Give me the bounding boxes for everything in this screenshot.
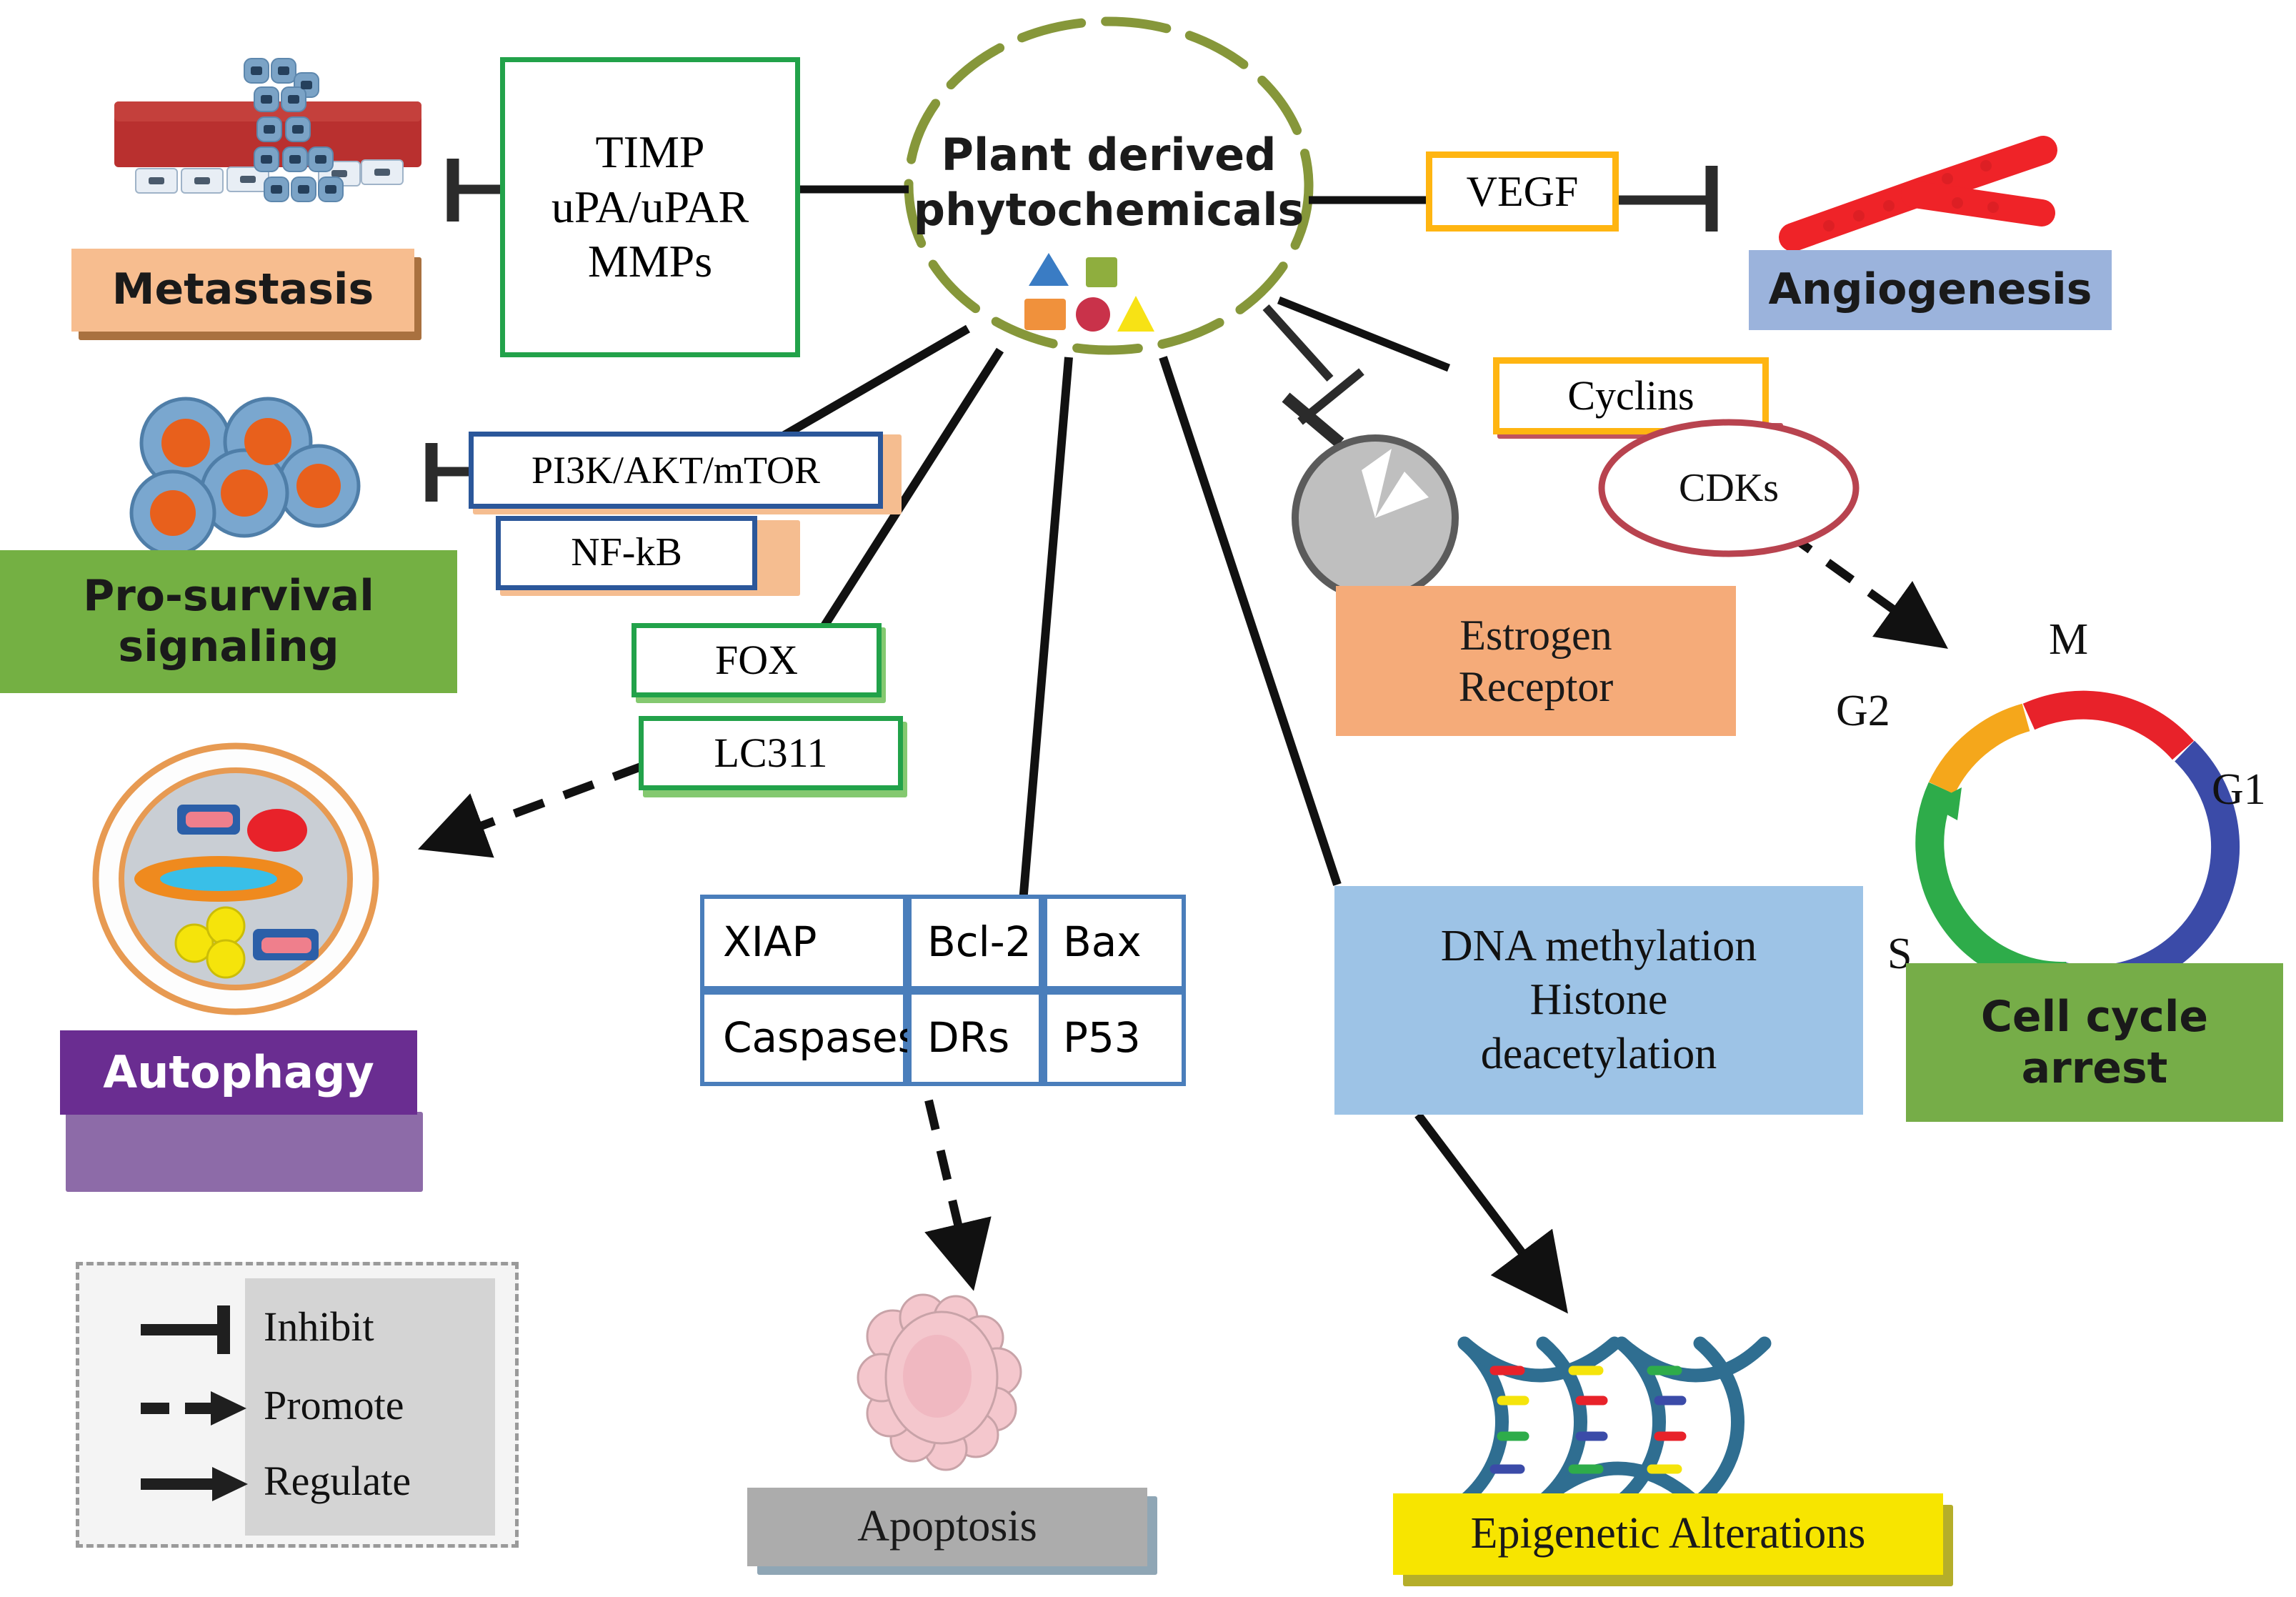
grid-cell-drs[interactable]: DRs [907,990,1043,1086]
dna-double-helix-icon [1450,1329,1779,1515]
cell-cycle-diagram [1886,657,2257,986]
cell-cycle-label-g1: G1 [2212,765,2266,815]
tumor-cell-cluster-icon [114,386,386,572]
outcome-estrogen-line-1: Estrogen [1459,610,1612,661]
blood-vessel-with-tumor-cells-icon [107,43,436,214]
box-pi3k-akt-mtor[interactable]: PI3K/AKT/mTOR [469,432,883,509]
legend-inhibit-glyph [141,1305,224,1354]
grid-cell-caspases-label: Caspases [723,1013,919,1063]
box-fox[interactable]: FOX [632,623,882,697]
grid-cell-bcl2[interactable]: Bcl-2 [907,895,1043,990]
outcome-pro-survival-line-2: signaling [118,622,339,672]
outcome-metastasis-label: Metastasis [112,266,374,314]
outcome-estrogen-line-2: Receptor [1459,661,1614,712]
grid-cell-bax[interactable]: Bax [1043,895,1186,990]
box-lc311[interactable]: LC311 [639,716,903,790]
outcome-angiogenesis-label: Angiogenesis [1769,266,2092,314]
grid-cell-bax-label: Bax [1063,917,1142,967]
center-node-line-2: phytochemicals [914,182,1304,238]
outcome-autophagy: Autophagy [60,1030,417,1115]
box-vegf-label: VEGF [1467,166,1579,217]
box-timp-line-1: TIMP [596,125,705,180]
box-timp-upa-mmps[interactable]: TIMP uPA/uPAR MMPs [500,57,800,357]
branching-blood-vessel-icon [1779,107,2079,264]
center-node-line-1: Plant derived [942,127,1277,183]
outcome-cell-cycle-arrest: Cell cycle arrest [1906,963,2283,1122]
outcome-pro-survival-line-1: Pro-survival [83,571,374,622]
grid-cell-bcl2-label: Bcl-2 [927,917,1032,967]
cell-cycle-label-m: M [2049,615,2088,665]
cell-cycle-label-g1-text: G1 [2212,765,2266,814]
cell-cycle-label-g2: G2 [1836,686,1890,737]
legend-label-promote: Promote [264,1381,404,1429]
box-fox-label: FOX [715,635,798,685]
legend-label-promote-text: Promote [264,1382,404,1428]
grid-cell-caspases[interactable]: Caspases [700,990,907,1086]
outcome-epigenetic-label: Epigenetic Alterations [1471,1509,1866,1558]
legend-label-inhibit: Inhibit [264,1303,374,1350]
cell-cycle-arc-g2 [1942,717,2026,788]
square-orange-marker [1024,299,1066,330]
outcome-metastasis: Metastasis [71,249,414,332]
figure-canvas: Metastasis TIMP uPA/uPAR MMPs Plant deri… [0,0,2296,1597]
triangle-blue-marker [1029,253,1069,286]
outcome-estrogen-receptor: Estrogen Receptor [1336,586,1736,736]
outcome-autophagy-label: Autophagy [103,1048,374,1097]
apoptosis-gene-grid: XIAP Bcl-2 Bax Caspases DRs P53 [700,895,1243,1086]
box-lc311-label: LC311 [714,728,828,778]
outcome-apoptosis-label: Apoptosis [857,1502,1037,1551]
apoptotic-blebbing-cell-icon [829,1286,1072,1486]
gray-receptor-cell-icon [1286,429,1464,607]
grid-cell-xiap-label: XIAP [723,917,817,967]
autophagy-banner-shadow [66,1112,423,1192]
autophagosome-cell-icon [86,736,386,1022]
box-dna-line-3: deacetylation [1481,1028,1717,1082]
outcome-cell-cycle-line-1: Cell cycle [1981,991,2208,1043]
cell-cycle-arc-g1 [2060,751,2225,980]
box-nf-kb-label: NF-kB [571,529,682,577]
legend-label-regulate-text: Regulate [264,1458,411,1504]
box-dna-line-1: DNA methylation [1441,920,1757,974]
legend-label-regulate: Regulate [264,1457,411,1505]
center-node-text: Plant derived phytochemicals [894,107,1323,257]
box-dna-line-2: Histone [1530,973,1668,1028]
outcome-angiogenesis: Angiogenesis [1749,250,2112,330]
grid-cell-drs-label: DRs [927,1013,1009,1063]
box-timp-line-2: uPA/uPAR [551,180,749,235]
grid-cell-p53-label: P53 [1063,1013,1141,1063]
triangle-yellow-marker [1117,296,1154,332]
outcome-cell-cycle-line-2: arrest [2022,1043,2168,1094]
box-cdks-label: CDKs [1679,465,1779,511]
square-green-marker [1086,257,1117,287]
circle-red-marker [1076,297,1110,332]
outcome-pro-survival: Pro-survival signaling [0,550,457,693]
grid-cell-xiap[interactable]: XIAP [700,895,907,990]
legend-promote-glyph [141,1391,246,1426]
box-timp-line-3: MMPs [588,234,712,289]
box-dna-methylation[interactable]: DNA methylation Histone deacetylation [1334,886,1863,1115]
cell-cycle-label-m-text: M [2049,615,2088,664]
box-nf-kb[interactable]: NF-kB [496,516,757,590]
box-vegf[interactable]: VEGF [1426,151,1619,232]
cell-cycle-arc-m [2029,705,2183,750]
outcome-epigenetic-alterations: Epigenetic Alterations [1393,1493,1943,1575]
phytochemical-markers [1014,249,1200,349]
cell-cycle-label-g2-text: G2 [1836,687,1890,735]
legend-panel: Inhibit Promote Regulate [76,1262,519,1548]
box-pi3k-label: PI3K/AKT/mTOR [531,447,820,494]
legend-regulate-glyph [141,1467,248,1501]
box-cdks-label-wrap: CDKs [1593,413,1865,563]
outcome-apoptosis: Apoptosis [747,1488,1147,1566]
grid-cell-p53[interactable]: P53 [1043,990,1186,1086]
legend-label-inhibit-text: Inhibit [264,1303,374,1350]
